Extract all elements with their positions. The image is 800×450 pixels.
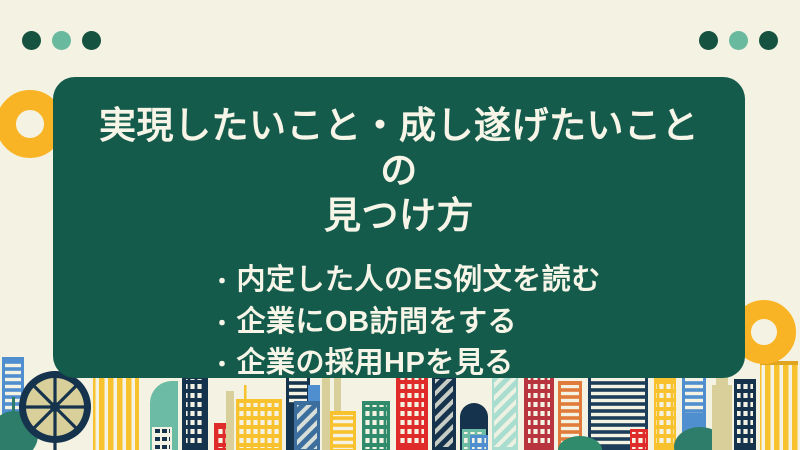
bullet-text: 内定した人のES例文を読む xyxy=(237,260,601,301)
dot-right-3 xyxy=(759,31,778,50)
list-item: ・ 企業の採用HPを見る xyxy=(211,343,715,384)
dot-group-left xyxy=(22,31,101,50)
dot-left-3 xyxy=(82,31,101,50)
bullet-text: 企業の採用HPを見る xyxy=(237,343,514,384)
bullet-marker-icon: ・ xyxy=(211,349,234,380)
bullet-marker-icon: ・ xyxy=(211,266,234,297)
content-card: 実現したいこと・成し遂げたいことの 見つけ方 ・ 内定した人のES例文を読む ・… xyxy=(53,77,745,378)
list-item: ・ 企業にOB訪問をする xyxy=(211,302,715,343)
bullet-text: 企業にOB訪問をする xyxy=(237,302,518,343)
dot-right-1 xyxy=(699,31,718,50)
bullet-list: ・ 内定した人のES例文を読む ・ 企業にOB訪問をする ・ 企業の採用HPを見… xyxy=(83,260,715,384)
dot-left-1 xyxy=(22,31,41,50)
slide-canvas: 実現したいこと・成し遂げたいことの 見つけ方 ・ 内定した人のES例文を読む ・… xyxy=(0,0,800,450)
dot-left-2 xyxy=(52,31,71,50)
list-item: ・ 内定した人のES例文を読む xyxy=(211,260,715,301)
dot-group-right xyxy=(699,31,778,50)
slide-title: 実現したいこと・成し遂げたいことの 見つけ方 xyxy=(83,103,715,238)
dot-right-2 xyxy=(729,31,748,50)
bullet-marker-icon: ・ xyxy=(211,308,234,339)
